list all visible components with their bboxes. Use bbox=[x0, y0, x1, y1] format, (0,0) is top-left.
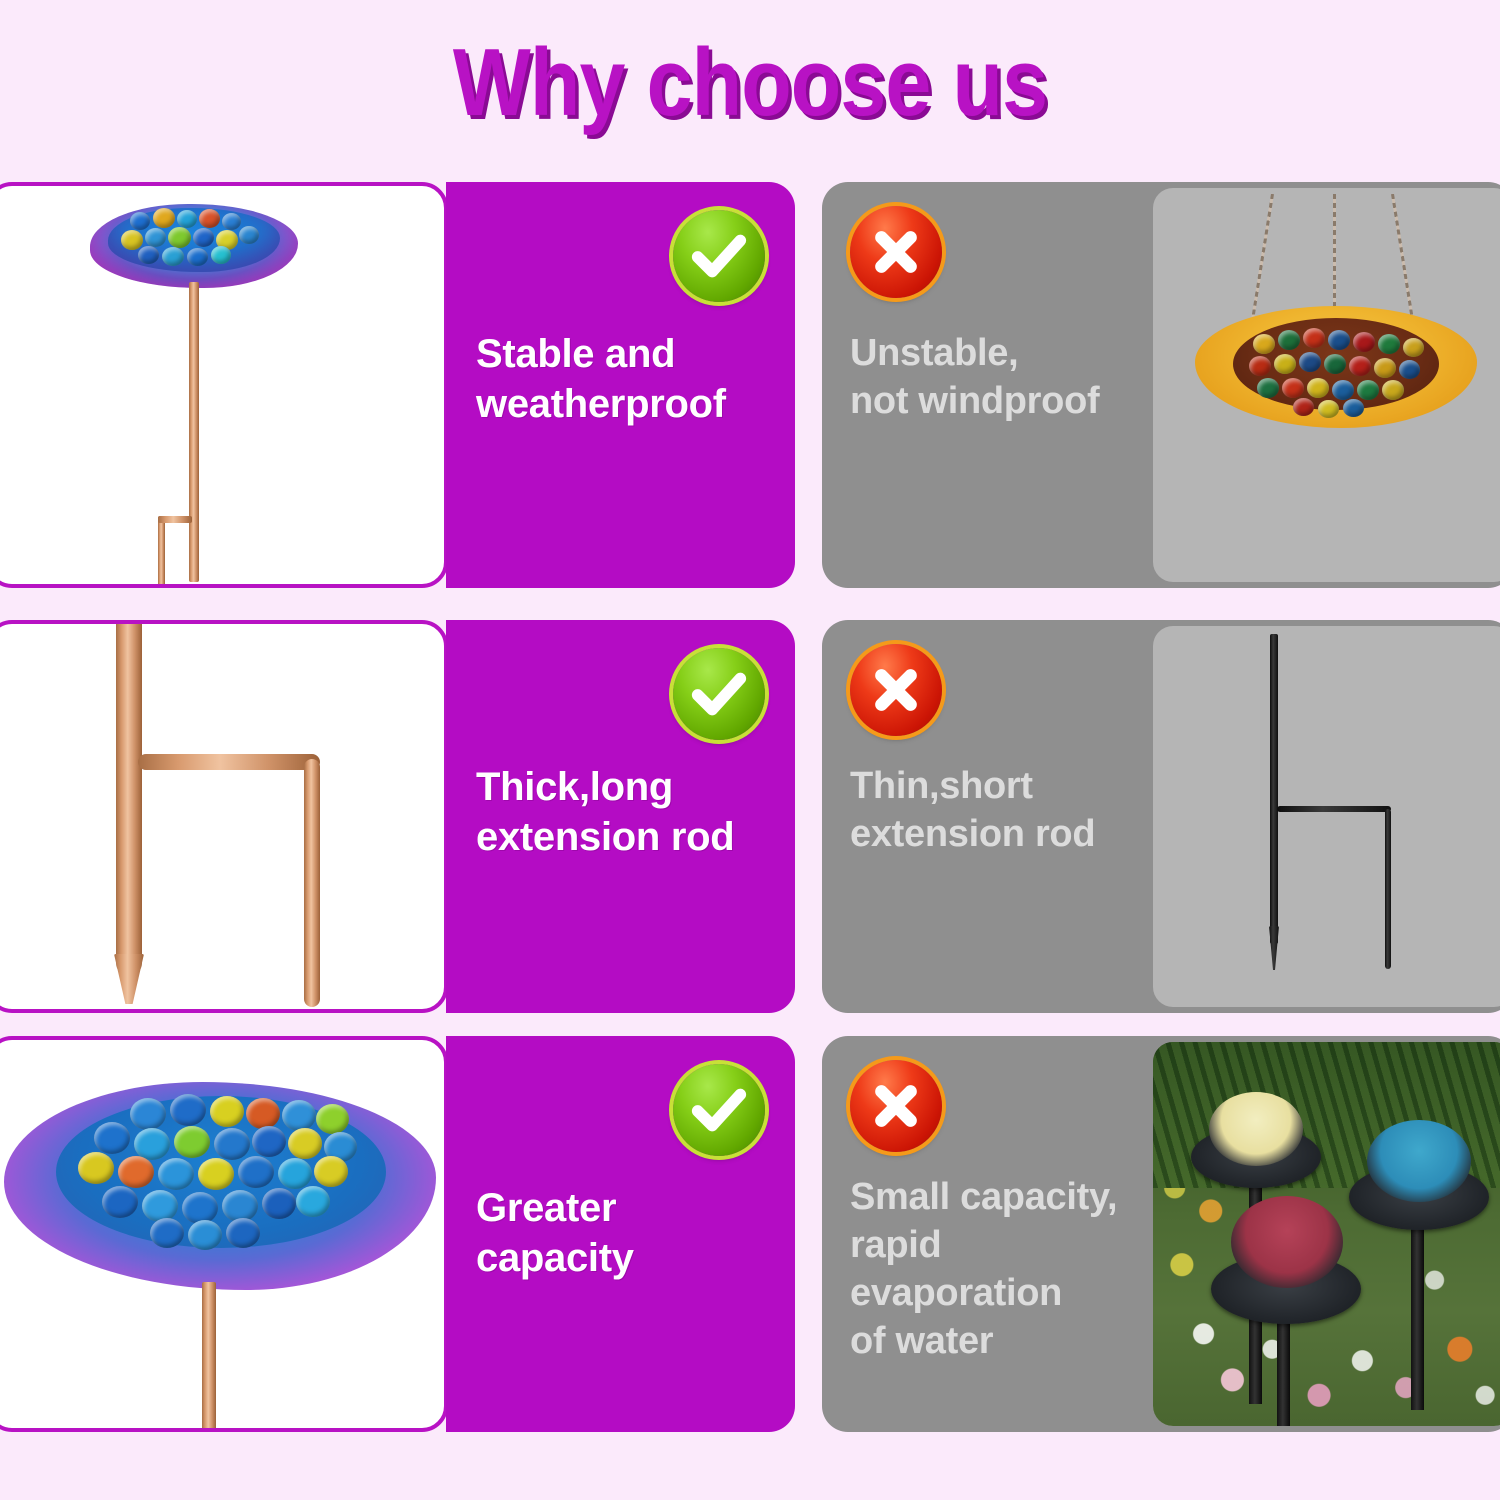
garden-photo-illustration bbox=[1153, 1042, 1500, 1426]
good-image-card-2 bbox=[0, 620, 448, 1013]
flower-stand-blue bbox=[1349, 1108, 1489, 1408]
comparison-row-1: Stable and weatherproof Unstable, not wi… bbox=[0, 182, 1500, 588]
bad-panel-2: Thin,short extension rod bbox=[822, 620, 1500, 1013]
bad-image-card-2 bbox=[1153, 626, 1500, 1007]
bad-panel-1: Unstable, not windproof bbox=[822, 182, 1500, 588]
why-choose-us-infographic: Why choose us bbox=[0, 0, 1500, 1500]
bad-panel-3: Small capacity, rapid evaporation of wat… bbox=[822, 1036, 1500, 1432]
comparison-row-2: Thick,long extension rod Thin,short exte… bbox=[0, 620, 1500, 1013]
bad-image-card-3 bbox=[1153, 1042, 1500, 1426]
good-label-1: Stable and weatherproof bbox=[476, 330, 783, 429]
thin-black-rod-illustration bbox=[1153, 626, 1500, 1007]
x-badge-icon bbox=[850, 206, 942, 298]
flower-stand-red bbox=[1211, 1182, 1361, 1426]
good-panel-2: Thick,long extension rod bbox=[446, 620, 795, 1013]
bad-label-3: Small capacity, rapid evaporation of wat… bbox=[850, 1174, 1150, 1366]
bad-label-2: Thin,short extension rod bbox=[850, 763, 1150, 859]
comparison-row-3: Greater capacity Small capacity, rapid e… bbox=[0, 1036, 1500, 1432]
check-badge-icon bbox=[673, 210, 765, 302]
thick-copper-rod-illustration bbox=[0, 624, 444, 1009]
good-image-card-3 bbox=[0, 1036, 448, 1432]
bad-image-card-1 bbox=[1153, 188, 1500, 582]
check-badge-icon bbox=[673, 1064, 765, 1156]
x-badge-icon bbox=[850, 644, 942, 736]
good-panel-3: Greater capacity bbox=[446, 1036, 795, 1432]
good-label-2: Thick,long extension rod bbox=[476, 763, 783, 862]
good-image-card-1 bbox=[0, 182, 448, 588]
good-label-3: Greater capacity bbox=[476, 1184, 783, 1283]
bird-bath-stake-illustration bbox=[0, 186, 444, 584]
hanging-bird-feeder-illustration bbox=[1153, 188, 1500, 582]
good-panel-1: Stable and weatherproof bbox=[446, 182, 795, 588]
x-badge-icon bbox=[850, 1060, 942, 1152]
large-flower-bowl-illustration bbox=[0, 1040, 444, 1428]
page-title: Why choose us bbox=[105, 28, 1395, 138]
check-badge-icon bbox=[673, 648, 765, 740]
bad-label-1: Unstable, not windproof bbox=[850, 330, 1150, 426]
